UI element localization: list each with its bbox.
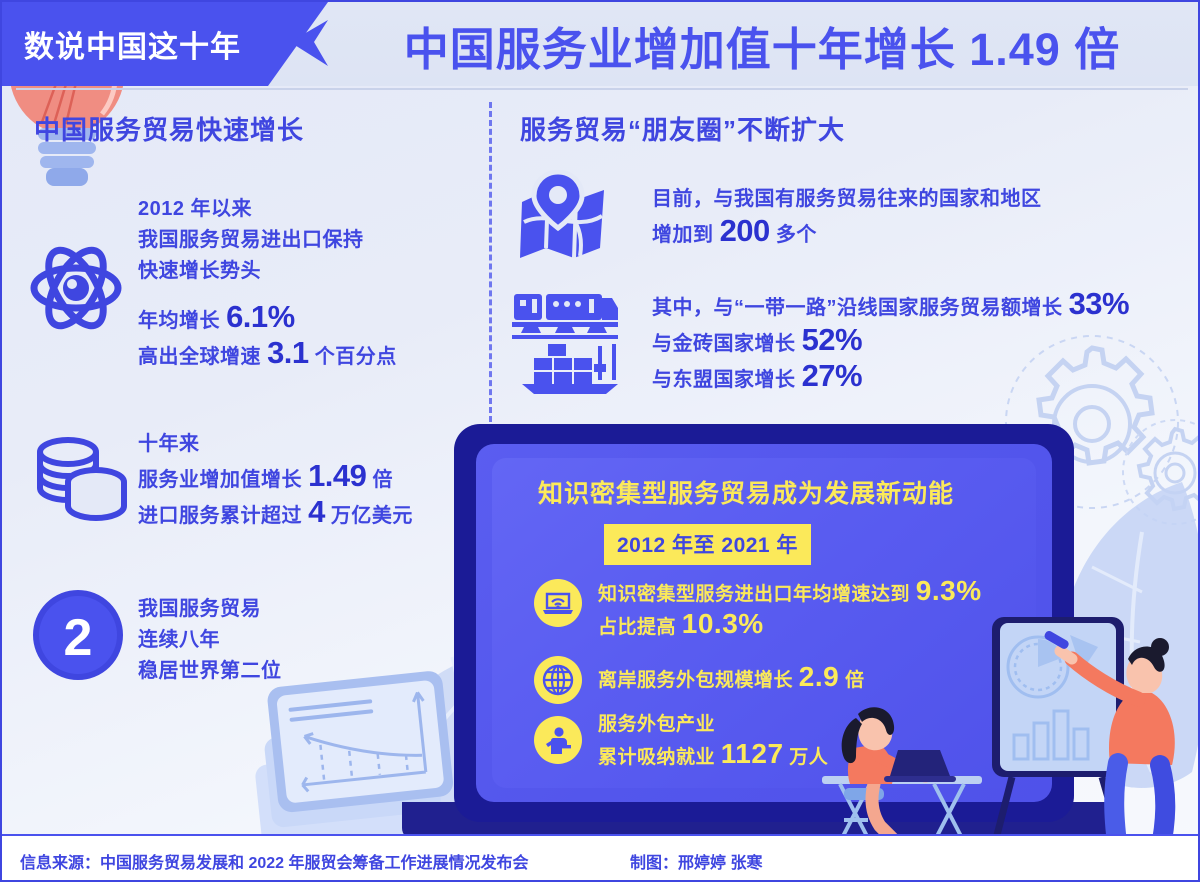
stat-suffix: 万人 <box>784 747 829 768</box>
gear-small-icon <box>1120 417 1200 527</box>
stat-value: 27% <box>802 358 863 393</box>
page-title: 中国服务业增加值十年增长 1.49 倍 <box>332 13 1192 78</box>
stat-value: 10.3% <box>682 608 764 639</box>
stat-prefix: 离岸服务外包规模增长 <box>598 670 799 691</box>
panel-row-1-text: 知识密集型服务进出口年均增速达到 9.3% 占比提高 10.3% <box>598 576 982 642</box>
stat-suffix: 倍 <box>839 670 864 691</box>
right-section-title: 服务贸易“朋友圈”不断扩大 <box>520 110 845 147</box>
text-line: 快速增长势头 <box>138 256 397 287</box>
atom-icon <box>28 240 124 336</box>
text-line: 目前，与我国有服务贸易往来的国家和地区 <box>652 184 1042 215</box>
coins-icon <box>32 430 132 530</box>
footer-credit: 制图：邢婷婷 张寒 <box>630 849 762 873</box>
panel-row-3-text: 服务外包产业 累计吸纳就业 1127 万人 <box>598 710 828 772</box>
text-line: 我国服务贸易 <box>138 594 282 625</box>
footer-bar: 信息来源：中国服务贸易发展和 2022 年服贸会筹备工作进展情况发布会 制图：邢… <box>2 834 1200 880</box>
left-section-title: 中国服务贸易快速增长 <box>34 110 304 147</box>
stat-prefix: 服务业增加值增长 <box>138 469 308 491</box>
stat-value: 52% <box>802 322 863 357</box>
laptop-wifi-icon <box>534 579 582 627</box>
stat-line: 进口服务累计超过 4 万亿美元 <box>138 496 413 532</box>
stat-suffix: 倍 <box>366 469 393 491</box>
stat-prefix: 高出全球增速 <box>138 346 267 368</box>
globe-icon <box>534 656 582 704</box>
stat-prefix: 增加到 <box>652 224 720 246</box>
train-ship-icon <box>512 288 622 394</box>
stat-value: 4 <box>308 494 325 529</box>
stat-line: 增加到 200 多个 <box>652 215 1042 251</box>
header-arrow-icon <box>288 16 332 72</box>
stat-suffix: 个百分点 <box>309 346 397 368</box>
laptop-shell: 知识密集型服务贸易成为发展新动能 2012 年至 2021 年 知识密集型服务进… <box>454 424 1074 822</box>
left-block-1-text: 2012 年以来 我国服务贸易进出口保持 快速增长势头 年均增长 6.1% 高出… <box>138 194 397 373</box>
stat-prefix: 知识密集型服务进出口年均增速达到 <box>598 584 916 605</box>
header-bar: 数说中国这十年 中国服务业增加值十年增长 1.49 倍 <box>2 2 1200 86</box>
panel-stat-line: 离岸服务外包规模增长 2.9 倍 <box>598 662 865 695</box>
right-block-2-text: 其中，与“一带一路”沿线国家服务贸易额增长 33% 与金砖国家增长 52% 与东… <box>652 288 1129 396</box>
panel-stat-line: 服务外包产业 <box>598 710 828 739</box>
map-pin-icon <box>514 170 610 262</box>
panel-title: 知识密集型服务贸易成为发展新动能 <box>538 474 954 510</box>
stat-value: 3.1 <box>267 335 309 370</box>
panel-row-2-text: 离岸服务外包规模增长 2.9 倍 <box>598 662 865 695</box>
text-line: 2012 年以来 <box>138 194 397 225</box>
stat-value: 200 <box>720 213 770 248</box>
stat-line: 与东盟国家增长 27% <box>652 360 1129 396</box>
left-block-3-text: 我国服务贸易 连续八年 稳居世界第二位 <box>138 594 282 687</box>
stat-prefix: 年均增长 <box>138 310 226 332</box>
right-block-1-text: 目前，与我国有服务贸易往来的国家和地区 增加到 200 多个 <box>652 184 1042 251</box>
panel-stat-line: 累计吸纳就业 1127 万人 <box>598 739 828 772</box>
stat-line: 其中，与“一带一路”沿线国家服务贸易额增长 33% <box>652 288 1129 324</box>
stat-line: 与金砖国家增长 52% <box>652 324 1129 360</box>
number-two-circle-icon: 2 <box>30 587 126 683</box>
stat-line: 年均增长 6.1% <box>138 301 397 337</box>
stat-suffix: 多个 <box>770 224 817 246</box>
stat-prefix: 进口服务累计超过 <box>138 505 308 527</box>
panel-stat-line: 知识密集型服务进出口年均增速达到 9.3% <box>598 576 982 609</box>
panel-year-tag: 2012 年至 2021 年 <box>604 524 811 565</box>
stat-line: 服务业增加值增长 1.49 倍 <box>138 460 413 496</box>
header-divider <box>16 88 1188 90</box>
column-divider <box>489 102 492 422</box>
text-line: 十年来 <box>138 429 413 460</box>
stat-value: 2.9 <box>799 661 839 692</box>
infographic-poster: 数说中国这十年 中国服务业增加值十年增长 1.49 倍 中国服务贸易快速增长 2… <box>0 0 1200 882</box>
stat-value: 33% <box>1069 286 1130 321</box>
stat-prefix: 累计吸纳就业 <box>598 747 721 768</box>
stat-value: 1127 <box>721 738 784 769</box>
panel-stat-line: 占比提高 10.3% <box>598 609 982 642</box>
stat-value: 6.1% <box>226 299 295 334</box>
header-badge-label: 数说中国这十年 <box>24 22 241 66</box>
worker-icon <box>534 716 582 764</box>
laptop-screen: 知识密集型服务贸易成为发展新动能 2012 年至 2021 年 知识密集型服务进… <box>476 444 1052 802</box>
stat-prefix: 与金砖国家增长 <box>652 333 802 355</box>
stat-prefix: 服务外包产业 <box>598 714 715 735</box>
text-line: 连续八年 <box>138 625 282 656</box>
stat-suffix: 万亿美元 <box>325 505 413 527</box>
stat-value: 1.49 <box>308 458 366 493</box>
stat-prefix: 与东盟国家增长 <box>652 369 802 391</box>
stat-prefix: 占比提高 <box>598 617 682 638</box>
footer-source: 信息来源：中国服务贸易发展和 2022 年服贸会筹备工作进展情况发布会 <box>20 849 529 873</box>
circle-number: 2 <box>64 609 93 667</box>
left-block-2-text: 十年来 服务业增加值增长 1.49 倍 进口服务累计超过 4 万亿美元 <box>138 429 413 532</box>
stat-prefix: 其中，与“一带一路”沿线国家服务贸易额增长 <box>652 297 1069 319</box>
stat-value: 9.3% <box>916 575 982 606</box>
text-line: 我国服务贸易进出口保持 <box>138 225 397 256</box>
text-line: 稳居世界第二位 <box>138 656 282 687</box>
stat-line: 高出全球增速 3.1 个百分点 <box>138 337 397 373</box>
